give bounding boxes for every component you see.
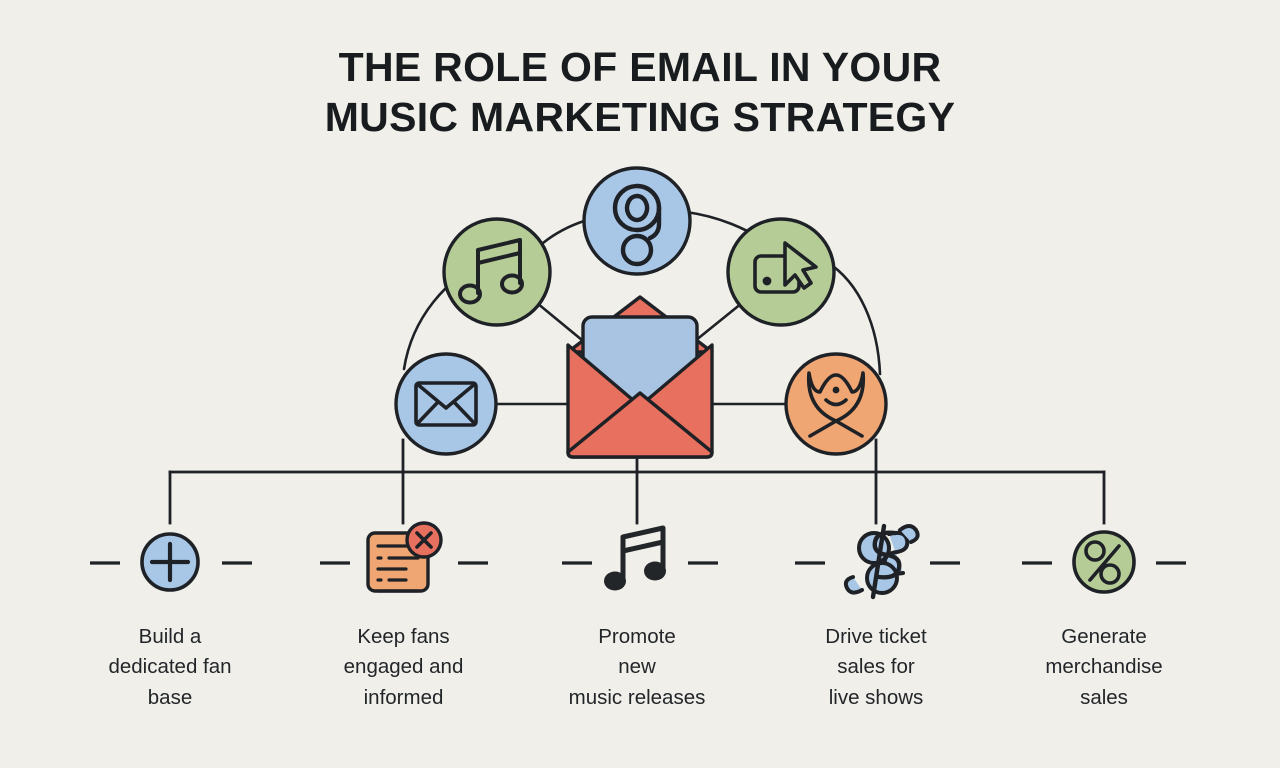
caption-line: Drive ticket	[770, 622, 982, 652]
spoke-music-to-center	[537, 303, 588, 345]
music-note-circle	[444, 219, 550, 325]
smiling-fan-node[interactable]	[786, 354, 886, 454]
closed-envelope-node[interactable]	[396, 354, 496, 454]
branch-caption-1: Build a dedicated fan base	[60, 622, 280, 713]
caption-line: new	[528, 652, 746, 682]
caption-line: music releases	[528, 683, 746, 713]
plus-circle-icon[interactable]	[142, 534, 198, 590]
open-envelope-icon	[568, 297, 712, 457]
caption-line: base	[60, 683, 280, 713]
merch-loop-icon[interactable]	[1074, 532, 1134, 592]
share-tag-node[interactable]	[728, 219, 834, 325]
caption-line: Promote	[528, 622, 746, 652]
branch-caption-5: Generate merchandise sales	[996, 622, 1212, 713]
caption-line: dedicated fan	[60, 652, 280, 682]
music-note-dark-icon[interactable]	[604, 528, 666, 591]
caption-line: informed	[296, 683, 511, 713]
document-alert-icon[interactable]	[368, 523, 441, 591]
caption-line: live shows	[770, 683, 982, 713]
music-note-node[interactable]	[444, 219, 550, 325]
branch-caption-2: Keep fans engaged and informed	[296, 622, 511, 713]
at-sign-node[interactable]	[584, 168, 690, 274]
caption-line: Build a	[60, 622, 280, 652]
caption-line: engaged and	[296, 652, 511, 682]
caption-line: Generate	[996, 622, 1212, 652]
caption-line: merchandise	[996, 652, 1212, 682]
close-icon	[407, 523, 441, 557]
branch-caption-3: Promote new music releases	[528, 622, 746, 713]
caption-line: sales for	[770, 652, 982, 682]
caption-line: sales	[996, 683, 1212, 713]
branch-caption-4: Drive ticket sales for live shows	[770, 622, 982, 713]
infographic-canvas: THE ROLE OF EMAIL IN YOUR MUSIC MARKETIN…	[0, 0, 1280, 768]
caption-line: Keep fans	[296, 622, 511, 652]
dollar-sign-icon[interactable]	[846, 526, 918, 597]
closed-envelope-circle	[396, 354, 496, 454]
share-tag-circle	[728, 219, 834, 325]
